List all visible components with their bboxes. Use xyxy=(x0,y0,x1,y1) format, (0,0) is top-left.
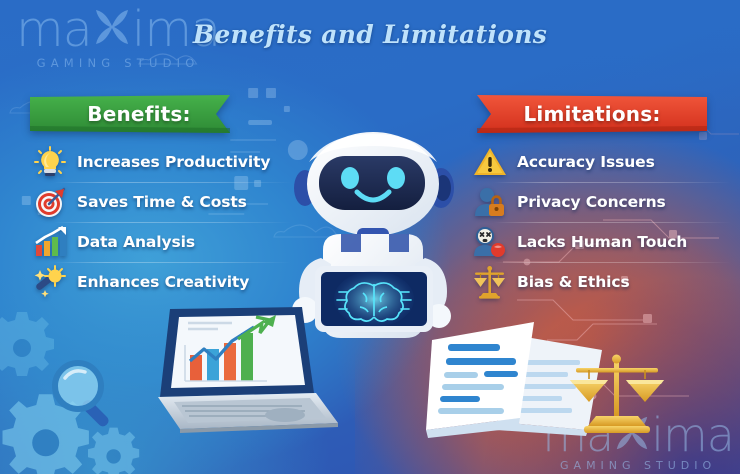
limitations-item-label: Bias & Ethics xyxy=(517,273,630,291)
benefits-item-label: Increases Productivity xyxy=(77,153,270,171)
brand-tagline-watermark: GAMING STUDIO xyxy=(542,459,734,472)
limitations-item-label: Lacks Human Touch xyxy=(517,233,687,251)
robot-face-icon xyxy=(472,224,508,260)
benefits-item-saves-time-costs[interactable]: Saves Time & Costs xyxy=(30,182,285,222)
limitations-item-privacy-concerns[interactable]: Privacy Concerns xyxy=(470,182,725,222)
limitations-banner-label: Limitations: xyxy=(523,102,660,126)
magnifying-glass-decoration xyxy=(48,358,120,430)
benefits-item-increases-productivity[interactable]: Increases Productivity xyxy=(30,142,285,182)
limitations-item-bias-ethics[interactable]: Bias & Ethics xyxy=(470,262,725,302)
limitations-banner: Limitations: xyxy=(477,95,707,133)
limitations-list: Accuracy Issues Privacy Concerns xyxy=(470,142,725,302)
benefits-item-enhances-creativity[interactable]: Enhances Creativity xyxy=(30,262,285,302)
page-title: Benefits and Limitations xyxy=(0,20,740,49)
magic-wand-icon xyxy=(32,264,68,300)
benefits-item-label: Data Analysis xyxy=(77,233,195,251)
limitations-item-lacks-human-touch[interactable]: Lacks Human Touch xyxy=(470,222,725,262)
bar-chart-icon xyxy=(32,224,68,260)
limitations-item-label: Accuracy Issues xyxy=(517,153,655,171)
infographic-canvas: ma ima GAMING STUDIO ma ima GAMING STUDI… xyxy=(0,0,740,474)
limitations-item-label: Privacy Concerns xyxy=(517,193,666,211)
warning-triangle-icon xyxy=(472,144,508,180)
benefits-item-data-analysis[interactable]: Data Analysis xyxy=(30,222,285,262)
benefits-item-label: Saves Time & Costs xyxy=(77,193,247,211)
target-dart-icon xyxy=(32,184,68,220)
limitations-item-accuracy-issues[interactable]: Accuracy Issues xyxy=(470,142,725,182)
person-lock-icon xyxy=(472,184,508,220)
benefits-banner-label: Benefits: xyxy=(87,102,190,126)
benefits-banner: Benefits: xyxy=(30,95,248,133)
scales-of-justice-illustration xyxy=(566,352,670,434)
lightbulb-icon xyxy=(32,144,68,180)
laptop-bar-chart-illustration xyxy=(152,305,342,433)
benefits-list: Increases Productivity Saves Time & Cost… xyxy=(30,142,285,302)
benefits-item-label: Enhances Creativity xyxy=(77,273,249,291)
scales-of-justice-icon xyxy=(472,264,508,300)
brand-tagline: GAMING STUDIO xyxy=(16,56,220,70)
